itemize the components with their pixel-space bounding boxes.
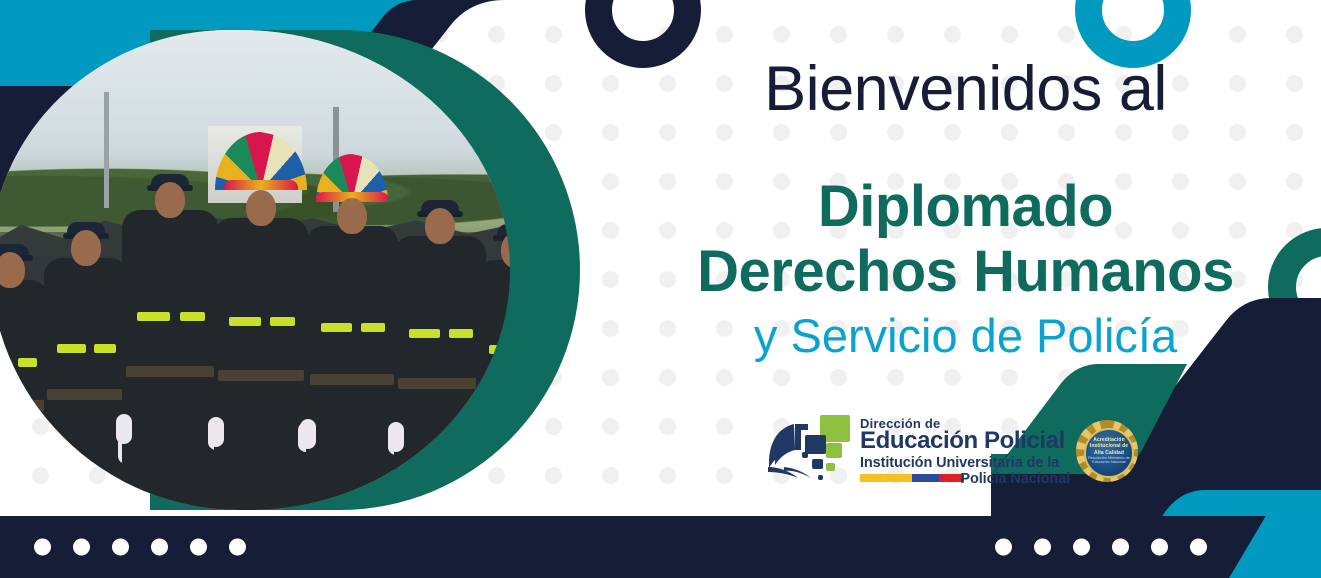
bottom-dot: [190, 539, 207, 556]
seal-center: Acreditación Institucional de Alta Calid…: [1084, 428, 1134, 478]
photo-officer: [122, 210, 218, 510]
hero-photo: [0, 30, 510, 510]
photo-officer: [44, 258, 128, 510]
logo-square-green-small: [826, 463, 835, 471]
logo-square-navy-medium: [805, 435, 826, 454]
photo-officer-headdress: [214, 218, 308, 510]
photo-officer: [476, 260, 510, 510]
logo-square-navy-dot: [802, 452, 808, 458]
logo-line-4: Policía Nacional: [960, 471, 1070, 487]
bottom-dot: [229, 539, 246, 556]
logo-square-navy-small: [812, 459, 823, 469]
institution-logo: Dirección de Educación Policial Instituc…: [758, 408, 1148, 494]
seal-title: Acreditación Institucional de Alta Calid…: [1086, 437, 1132, 456]
logo-line-2: Educación Policial: [860, 429, 1065, 453]
photo-officer: [394, 236, 486, 510]
logo-square-green-medium: [826, 443, 842, 458]
course-title-line-2: Derechos Humanos: [640, 243, 1291, 301]
accreditation-seal-icon: Acreditación Institucional de Alta Calid…: [1076, 420, 1138, 482]
photo-officer: [0, 280, 48, 510]
course-title-line-3: y Servicio de Policía: [640, 312, 1291, 359]
bottom-dot: [151, 539, 168, 556]
welcome-heading: Bienvenidos al: [640, 56, 1291, 122]
logo-square-navy-dot-2: [818, 475, 823, 480]
colombia-flag-bar-icon: [860, 474, 964, 482]
logo-line-3: Institución Universitaria de la: [860, 455, 1059, 471]
photo-light-pole-2: [104, 92, 109, 207]
bottom-dot: [73, 539, 90, 556]
headline-block: Bienvenidos al Diplomado Derechos Humano…: [640, 0, 1321, 578]
bottom-dots-left: [34, 539, 246, 556]
seal-subtitle: Resolución Ministerio de Educación Nacio…: [1086, 456, 1132, 465]
logo-wordmark: Dirección de Educación Policial Instituc…: [860, 413, 1070, 489]
bottom-dot: [34, 539, 51, 556]
logo-mark: [758, 413, 854, 489]
photo-officer-headdress: [306, 226, 398, 510]
bottom-dot: [112, 539, 129, 556]
promo-banner: Bienvenidos al Diplomado Derechos Humano…: [0, 0, 1321, 578]
course-title-line-1: Diplomado: [640, 178, 1291, 236]
hero-photo-block: [0, 30, 590, 510]
